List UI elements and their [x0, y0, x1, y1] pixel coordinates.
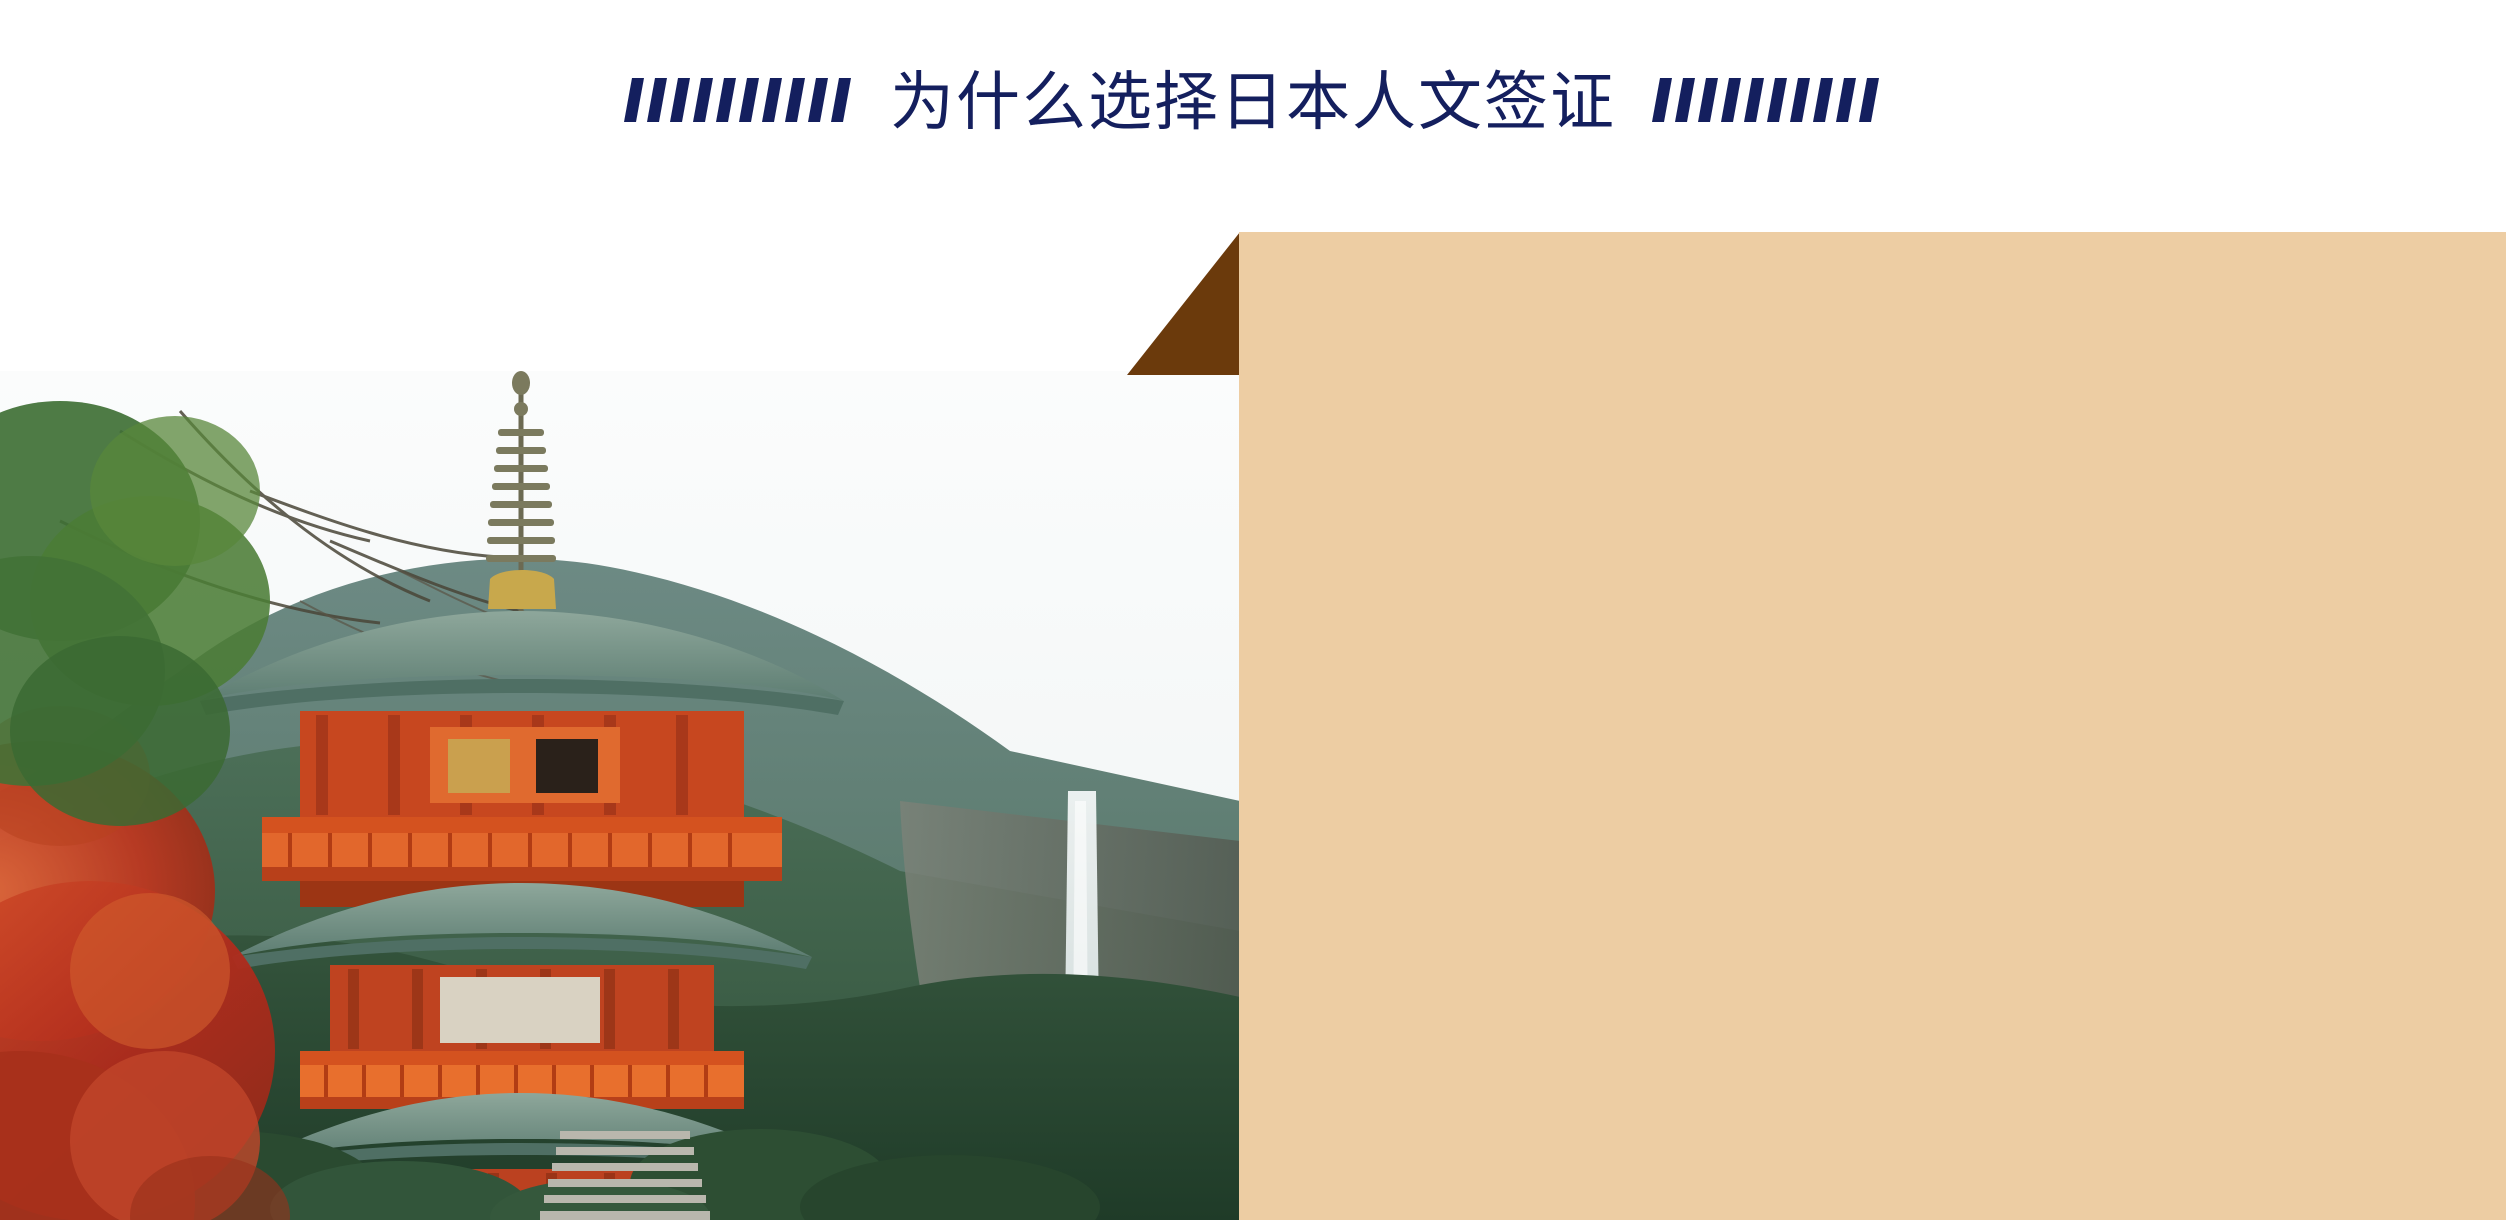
- slanted-bars-decoration-left-icon: [624, 72, 854, 128]
- slide-canvas: 为什么选择日本人文签证: [0, 0, 2506, 1220]
- slanted-bars-decoration-right-icon: [1652, 72, 1882, 128]
- title-band: 为什么选择日本人文签证: [0, 0, 2506, 200]
- page-title: 为什么选择日本人文签证: [890, 70, 1616, 134]
- content-panel: 日本“人文签项目”(全称:“技术·人文知识·国际业务”在留资格签证项目)是日本政…: [1239, 232, 2506, 1220]
- corner-flag-triangle: [1127, 232, 1240, 375]
- pagoda-photo: [0, 371, 1240, 1220]
